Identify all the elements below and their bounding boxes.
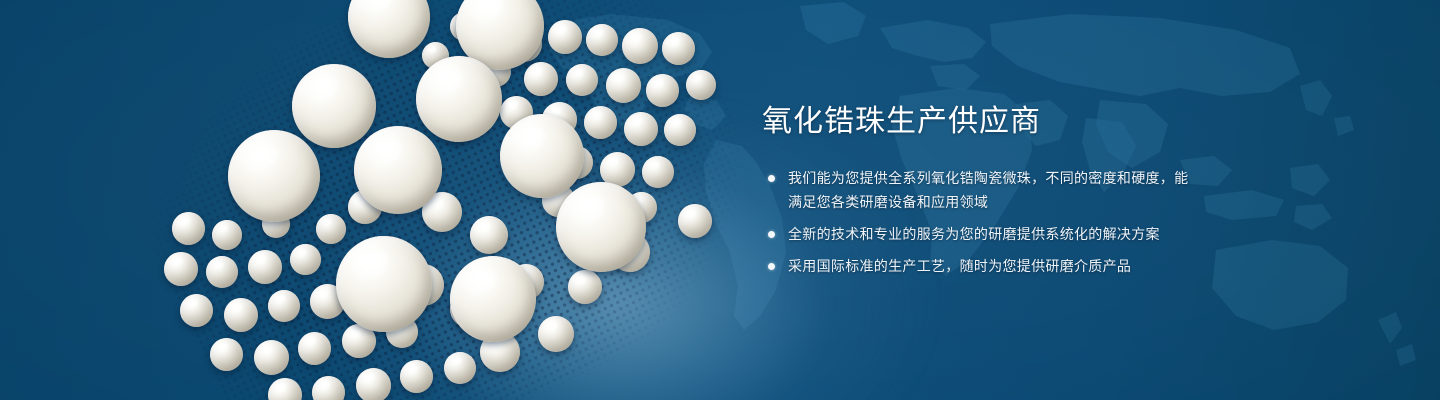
vignette-overlay (0, 0, 1440, 400)
hero-banner: 氧化锆珠生产供应商 我们能为您提供全系列氧化锆陶瓷微珠，不同的密度和硬度，能满足… (0, 0, 1440, 400)
